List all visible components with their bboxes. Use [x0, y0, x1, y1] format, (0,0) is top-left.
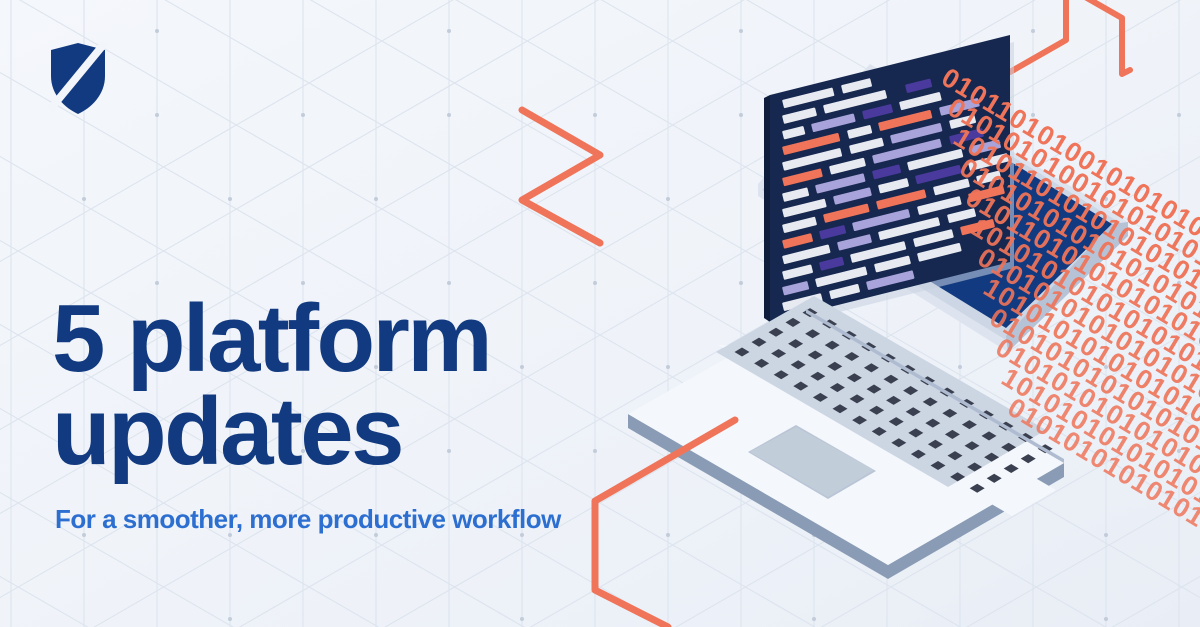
page-subtitle: For a smoother, more productive workflow — [55, 504, 652, 535]
banner-root: 0101101010010101010101010101010101010100… — [0, 0, 1200, 627]
headline-block: 5 platform updates For a smoother, more … — [52, 292, 652, 535]
headline-line-2: updates — [52, 378, 402, 485]
headline-line-1: 5 platform — [52, 285, 490, 392]
illustration-hit-area — [600, 0, 1200, 627]
page-title: 5 platform updates — [52, 292, 652, 478]
